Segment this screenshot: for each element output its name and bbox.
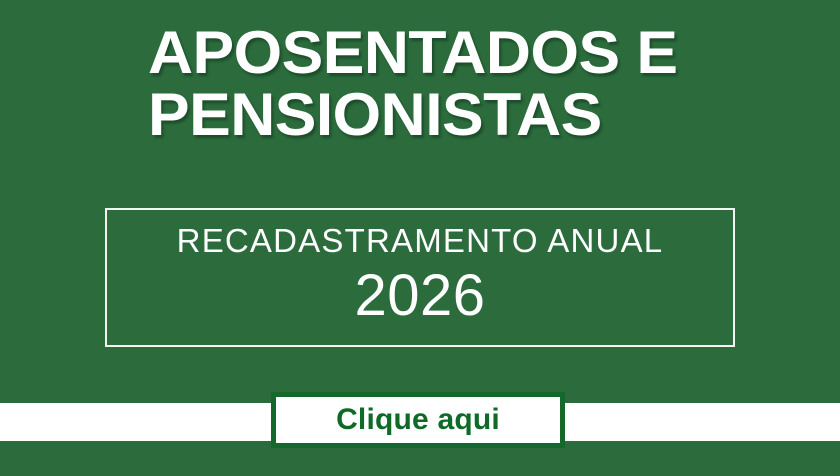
headline-line-1: APOSENTADOS E — [148, 22, 834, 84]
subtitle-text: RECADASTRAMENTO ANUAL — [177, 221, 664, 261]
headline-line-2: PENSIONISTAS — [148, 84, 834, 146]
clique-aqui-button[interactable]: Clique aqui — [271, 392, 565, 448]
cta-button-label: Clique aqui — [336, 405, 500, 435]
year-text: 2026 — [354, 263, 485, 329]
headline-block: APOSENTADOS E PENSIONISTAS — [148, 22, 808, 146]
subtitle-frame: RECADASTRAMENTO ANUAL 2026 — [105, 208, 735, 347]
promo-banner: APOSENTADOS E PENSIONISTAS RECADASTRAMEN… — [0, 0, 840, 476]
